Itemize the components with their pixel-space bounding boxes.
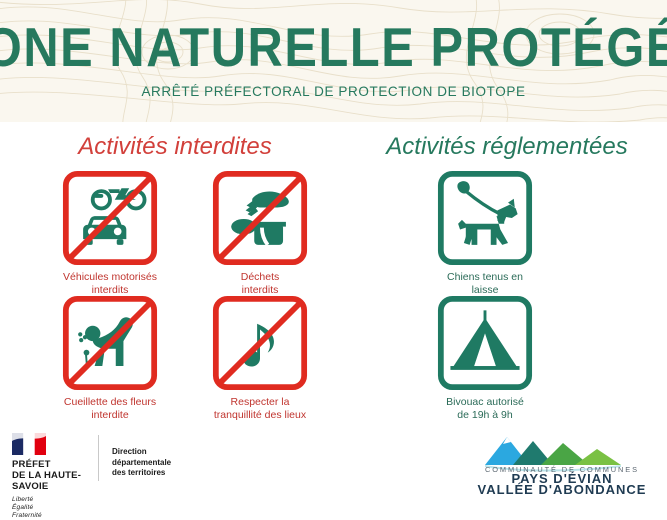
- item-waste: Déchets interdits: [185, 170, 335, 297]
- prefecture-line-2: DE LA HAUTE-: [12, 470, 81, 481]
- litter-waste-icon: [212, 170, 308, 266]
- header-band: ZONE NATURELLE PROTÉGÉE ARRÊTÉ PRÉFECTOR…: [0, 0, 667, 122]
- mountains-icon: COMMUNAUTÉ DE COMMUNES PAYS D'ÉVIAN VALL…: [467, 431, 657, 495]
- page-subtitle: ARRÊTÉ PRÉFECTORAL DE PROTECTION DE BIOT…: [141, 83, 525, 99]
- caption-line-1: Véhicules motorisés: [35, 271, 185, 284]
- service-line-3: des territoires: [112, 468, 171, 479]
- motto-line-2: Égalité: [12, 504, 81, 512]
- poster: ZONE NATURELLE PROTÉGÉE ARRÊTÉ PRÉFECTOR…: [0, 0, 667, 500]
- caption-noise: Respecter la tranquillité des lieux: [185, 396, 335, 422]
- flower-picking-icon: [62, 295, 158, 391]
- item-bivouac: Bivouac autorisé de 19h à 9h: [410, 295, 560, 422]
- page-title: ZONE NATURELLE PROTÉGÉE: [0, 19, 667, 73]
- service-name: Direction départementale des territoires: [112, 447, 171, 479]
- caption-line-1: Chiens tenus en: [410, 271, 560, 284]
- motto-line-1: Liberté: [12, 496, 81, 504]
- tent-icon: [437, 295, 533, 391]
- prefecture-logo: PRÉFET DE LA HAUTE- SAVOIE Liberté Égali…: [12, 433, 81, 520]
- motor-vehicle-icon: [62, 170, 158, 266]
- caption-line-1: Bivouac autorisé: [410, 396, 560, 409]
- heading-forbidden: Activités interdites: [0, 133, 350, 161]
- footer: PRÉFET DE LA HAUTE- SAVOIE Liberté Égali…: [0, 425, 667, 500]
- community-name-line-2: VALLÉE D'ABONDANCE: [478, 482, 647, 495]
- caption-line-2: tranquillité des lieux: [185, 409, 335, 422]
- service-line-1: Direction: [112, 447, 171, 458]
- caption-dog-leash: Chiens tenus en laisse: [410, 271, 560, 297]
- prefecture-line-1: PRÉFET: [12, 459, 81, 470]
- caption-flower-picking: Cueillette des fleurs interdite: [35, 396, 185, 422]
- music-note-icon: [212, 295, 308, 391]
- caption-line-1: Respecter la: [185, 396, 335, 409]
- service-line-2: départementale: [112, 458, 171, 469]
- caption-waste: Déchets interdits: [185, 271, 335, 297]
- prefecture-line-3: SAVOIE: [12, 481, 81, 492]
- item-flower-picking: Cueillette des fleurs interdite: [35, 295, 185, 422]
- caption-motor-vehicles: Véhicules motorisés interdits: [35, 271, 185, 297]
- caption-line-2: de 19h à 9h: [410, 409, 560, 422]
- section-headings: Activités interdites Activités réglement…: [0, 133, 667, 165]
- community-logo: COMMUNAUTÉ DE COMMUNES PAYS D'ÉVIAN VALL…: [467, 431, 657, 495]
- french-flag-icon: [12, 433, 46, 455]
- item-noise: Respecter la tranquillité des lieux: [185, 295, 335, 422]
- caption-bivouac: Bivouac autorisé de 19h à 9h: [410, 396, 560, 422]
- caption-line-1: Cueillette des fleurs: [35, 396, 185, 409]
- footer-divider: [98, 435, 99, 481]
- motto-line-3: Fraternité: [12, 512, 81, 520]
- caption-line-2: interdite: [35, 409, 185, 422]
- item-motor-vehicles: Véhicules motorisés interdits: [35, 170, 185, 297]
- heading-regulated: Activités réglementées: [347, 133, 667, 161]
- caption-line-1: Déchets: [185, 271, 335, 284]
- prefecture-name: PRÉFET DE LA HAUTE- SAVOIE Liberté Égali…: [12, 459, 81, 520]
- item-dog-leash: Chiens tenus en laisse: [410, 170, 560, 297]
- dog-on-leash-icon: [437, 170, 533, 266]
